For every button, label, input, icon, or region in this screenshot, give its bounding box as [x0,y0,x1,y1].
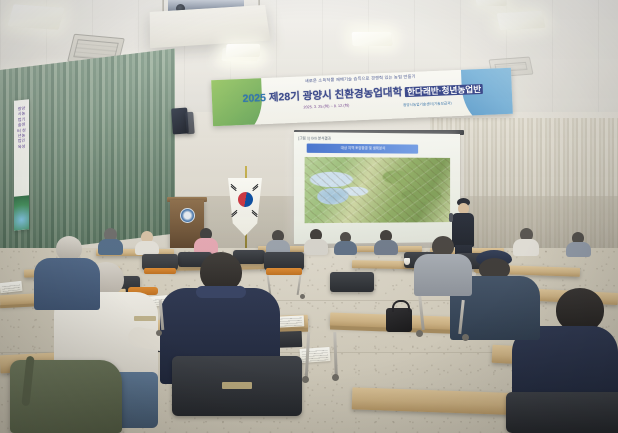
chair-back [330,272,374,292]
attendee-collar [196,286,246,298]
attendee-body [34,258,100,310]
ceiling-light [226,44,261,57]
empty-chair-seat [266,268,302,275]
slide-map-water [317,188,348,205]
handbag-handle [392,300,410,312]
slide-title-bar: 대상 지역 토양환경 및 생육분석 [307,144,418,154]
empty-chair-seat [144,268,176,274]
chair-caster [462,334,469,341]
chair-label-plate [222,382,252,389]
attendee-body [513,239,539,256]
handout-paper [278,315,305,327]
paper-cup [404,258,410,265]
slide-aerial-map [305,157,451,223]
chair-caster [156,330,162,336]
vertical-banner-text: 광양시농업기술센터 청년농업인 육성 [16,105,27,149]
attendee-body [414,254,472,296]
attendee-body [98,239,123,255]
ceiling-light [496,11,545,30]
slide-header-label: [그림 1] GIS 분석결과 [298,135,331,141]
banner-term: 제28기 [269,91,300,104]
banner-program: 친환경농업대학 [334,86,402,101]
banner-highlight: 한다래반·청년농업반 [405,84,483,97]
banner-year: 2025 [242,92,266,105]
desk-caster [302,376,309,383]
attendee-body [135,241,159,255]
desk-caster [332,374,339,381]
handout-paper [300,347,331,363]
presenter-body [452,213,474,247]
ceiling-light [7,4,64,30]
vertical-banner: 광양시농업기술센터 청년농업인 육성 [14,99,29,231]
vertical-banner-graphic [14,195,29,231]
banner-city: 광양시 [303,89,332,102]
ceiling-light [475,0,507,6]
attendee-body [304,239,328,255]
projection-screen: [그림 1] GIS 분석결과 대상 지역 토양환경 및 생육분석 [294,132,460,244]
chair-label-plate [134,316,156,321]
attendee-body [374,240,398,255]
ceiling-light [352,32,393,46]
city-emblem-icon [180,208,195,223]
chair-caster [300,294,305,299]
attendee-body [566,242,591,257]
attendee-body [334,241,357,255]
photo-scene: 광양시농업기술센터 청년농업인 육성 새로운 소득작물 재배기술 습득으로 경쟁… [0,0,618,433]
microphone-icon [449,213,453,222]
wall-speaker [185,112,195,135]
chair-caster [416,330,423,337]
chair-back [506,392,618,433]
